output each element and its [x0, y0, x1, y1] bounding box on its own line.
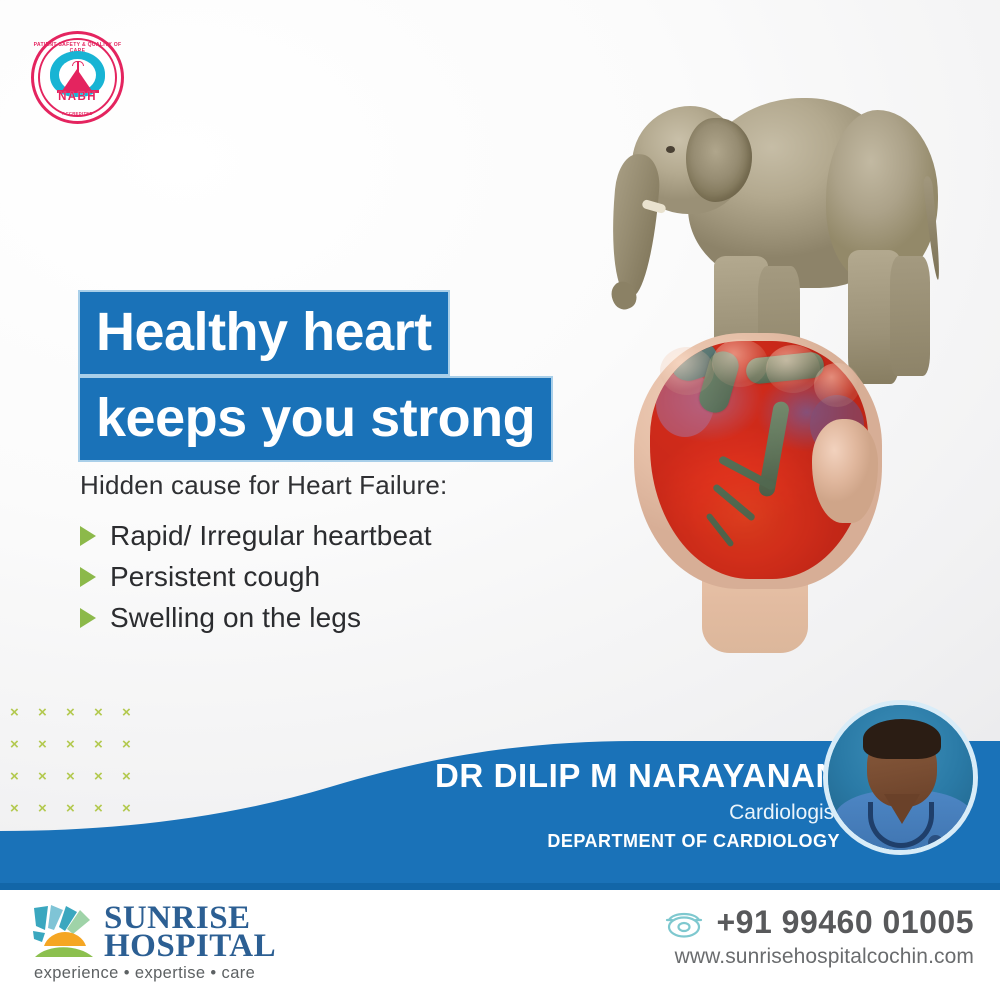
painted-heart-fist-photo — [616, 323, 900, 653]
brand-line-2: HOSPITAL — [104, 928, 276, 965]
thumb — [812, 419, 878, 523]
doctor-department: DEPARTMENT OF CARDIOLOGY — [547, 831, 840, 852]
phone-number[interactable]: +91 99460 01005 — [716, 904, 974, 941]
triangle-bullet-icon — [80, 567, 96, 587]
x-mark-icon: × — [10, 706, 23, 719]
website-url[interactable]: www.sunrisehospitalcochin.com — [664, 945, 974, 969]
phone-row: +91 99460 01005 — [664, 904, 974, 941]
brand-tagline: experience • expertise • care — [34, 964, 255, 983]
footer-bar: SUNRISE HOSPITAL experience • expertise … — [0, 890, 1000, 1000]
triangle-bullet-icon — [80, 526, 96, 546]
doctor-role: Cardiologist — [729, 801, 840, 825]
list-item-label: Rapid/ Irregular heartbeat — [110, 520, 432, 552]
list-item: Rapid/ Irregular heartbeat — [80, 515, 432, 556]
avatar — [823, 700, 978, 855]
poster-root: PATIENT SAFETY & QUALITY OF CARE NABH AC… — [0, 0, 1000, 1000]
list-item-label: Persistent cough — [110, 561, 320, 593]
telephone-icon — [664, 908, 704, 938]
triangle-bullet-icon — [80, 608, 96, 628]
doctor-hair — [863, 719, 941, 759]
elephant-trunk — [606, 152, 662, 297]
subheading: Hidden cause for Heart Failure: — [80, 470, 447, 501]
sunrise-logo-icon — [32, 904, 96, 960]
knuckle-1 — [660, 347, 714, 395]
symptom-list: Rapid/ Irregular heartbeat Persistent co… — [80, 515, 432, 638]
list-item-label: Swelling on the legs — [110, 602, 361, 634]
hospital-logo: SUNRISE HOSPITAL experience • expertise … — [32, 902, 272, 982]
caduceus-icon — [71, 60, 85, 74]
knuckle-4 — [814, 363, 860, 407]
poster-main-canvas: PATIENT SAFETY & QUALITY OF CARE NABH AC… — [0, 0, 1000, 890]
x-mark-icon: × — [66, 706, 79, 719]
x-mark-icon: × — [38, 706, 51, 719]
hero-imagery — [560, 55, 1000, 745]
doctor-name: DR DILIP M NARAYANAN — [435, 757, 840, 795]
page-title: Healthy heart keeps you strong — [78, 290, 553, 462]
heart-branch-2 — [712, 483, 756, 522]
nabh-bottom-text: ACCREDITED — [31, 111, 124, 116]
headline-line-1: Healthy heart — [78, 290, 450, 376]
x-mark-icon: × — [94, 706, 107, 719]
nabh-seal-icon: PATIENT SAFETY & QUALITY OF CARE NABH AC… — [31, 31, 124, 124]
heart-branch-3 — [705, 512, 734, 547]
list-item: Swelling on the legs — [80, 597, 432, 638]
x-mark-icon: × — [122, 706, 135, 719]
stethoscope-bell-icon — [928, 835, 943, 850]
knuckle-3 — [766, 345, 820, 393]
knuckle-2 — [712, 339, 768, 387]
list-item: Persistent cough — [80, 556, 432, 597]
contact-info: +91 99460 01005 www.sunrisehospitalcochi… — [664, 904, 974, 969]
elephant-eye — [666, 146, 675, 153]
headline-line-2: keeps you strong — [78, 376, 553, 462]
nabh-label: NABH — [31, 91, 124, 103]
